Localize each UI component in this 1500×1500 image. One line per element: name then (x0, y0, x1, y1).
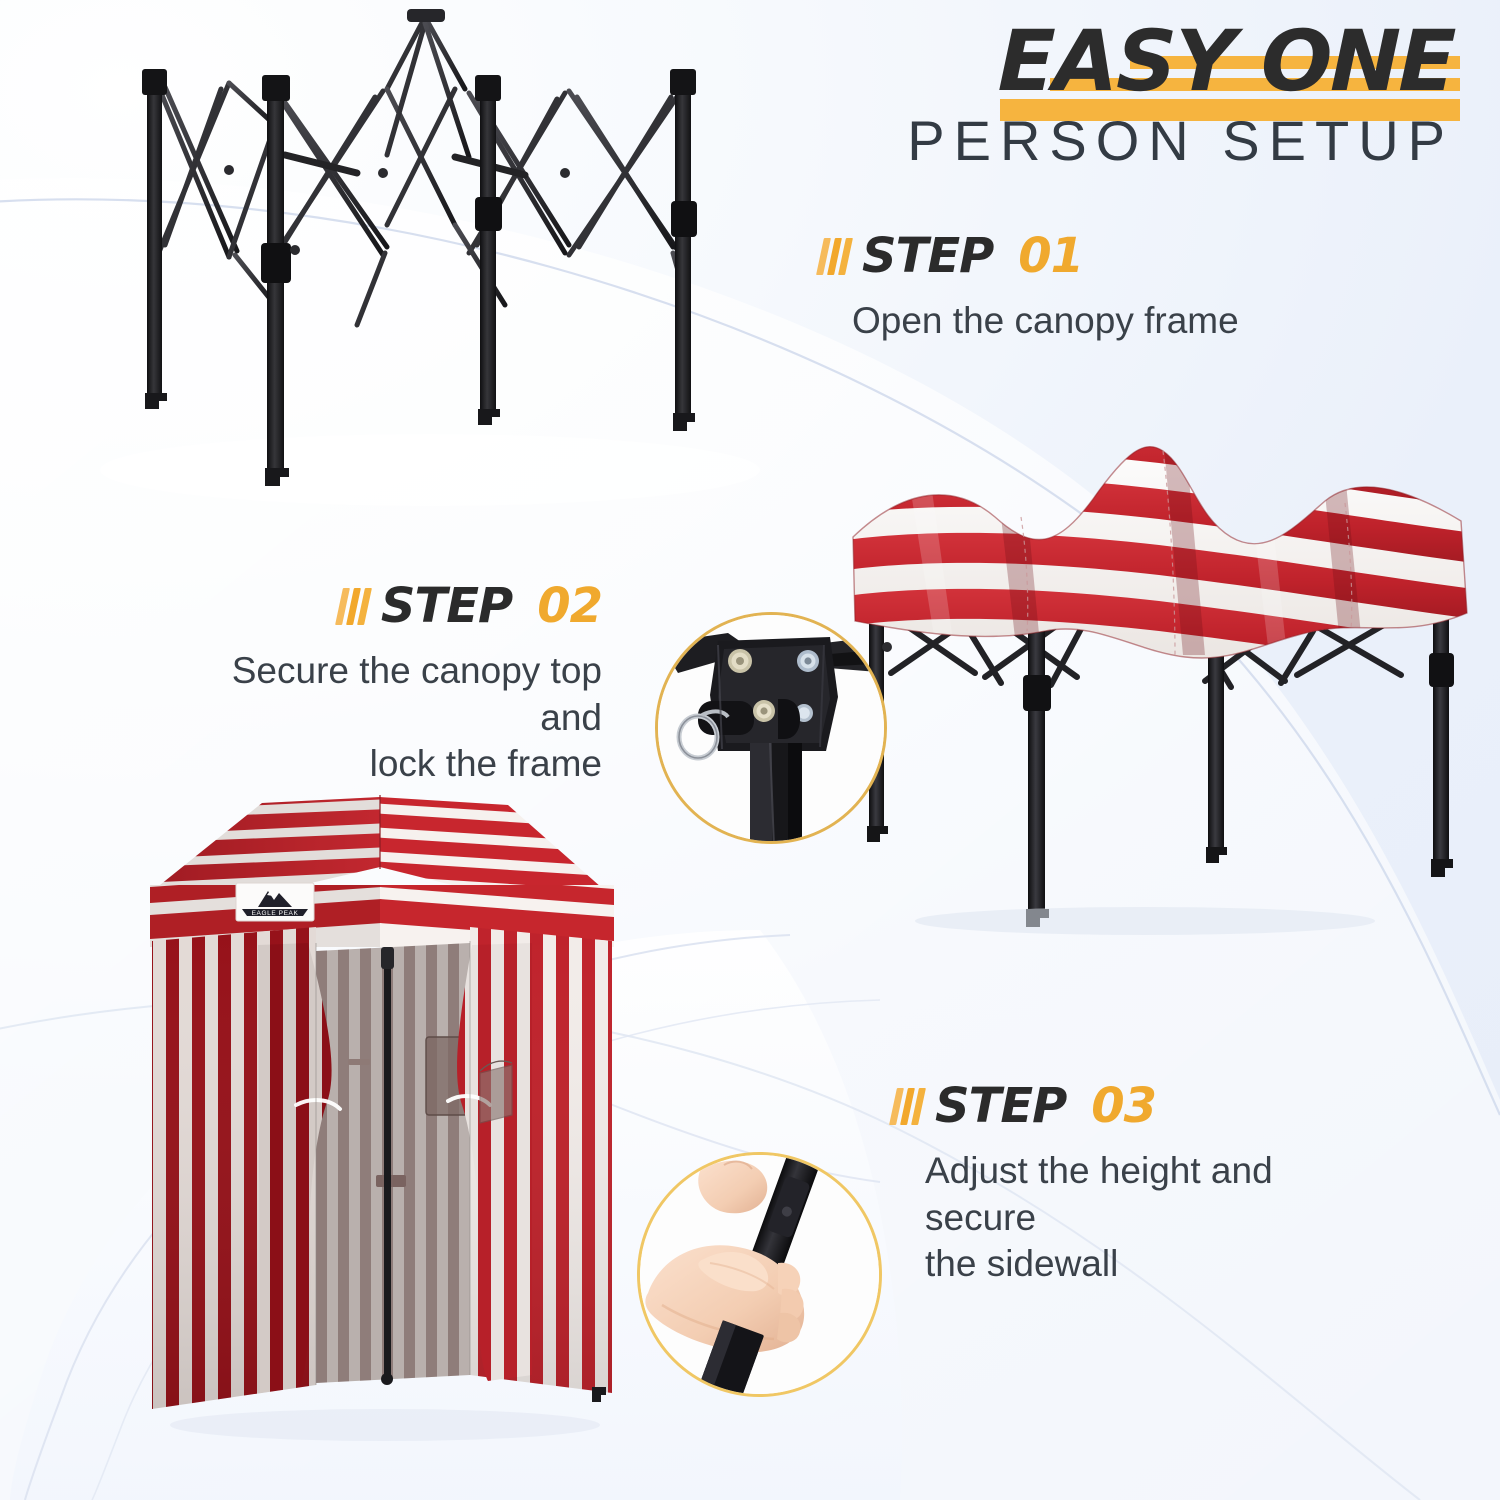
step-02-block: STEP 02 Secure the canopy top and lock t… (182, 578, 602, 788)
headline-block: EASY ONE PERSON SETUP (907, 20, 1454, 171)
step-03-heading: STEP 03 (893, 1078, 1363, 1134)
step-01-block: STEP 01 Open the canopy frame (820, 228, 1239, 345)
step-02-description-line-1: Secure the canopy top and (182, 648, 602, 741)
headline-main-wrap: EASY ONE (998, 20, 1454, 102)
striped-canopy-top-photo (845, 425, 1485, 935)
step-01-number: 01 (1018, 228, 1083, 284)
step-01-word: STEP (862, 228, 993, 284)
step-03-word: STEP (935, 1078, 1066, 1134)
svg-text:EAGLE PEAK: EAGLE PEAK (252, 910, 299, 917)
step-marker-bars-icon (335, 588, 372, 625)
headline-line-1: EASY ONE (997, 20, 1454, 102)
step-02-word: STEP (381, 578, 512, 634)
step-02-heading: STEP 02 (182, 578, 602, 634)
inset-step-02-lock-closeup (655, 612, 887, 844)
step-02-description: Secure the canopy top and lock the frame (182, 648, 602, 788)
inset-step-03-hand-closeup (637, 1152, 882, 1397)
step-marker-bars-icon (816, 238, 853, 275)
inset-circle-frame (655, 612, 887, 844)
step-03-number: 03 (1091, 1078, 1156, 1134)
inset-circle-frame (637, 1152, 882, 1397)
infographic-canvas: EASY ONE PERSON SETUP STEP 01 Open the c… (0, 0, 1500, 1500)
step-01-description: Open the canopy frame (852, 298, 1239, 345)
step-03-description: Adjust the height and secure the sidewal… (925, 1148, 1363, 1288)
canopy-frame-photo (125, 5, 725, 495)
step-01-heading: STEP 01 (820, 228, 1239, 284)
assembled-cabana-photo: EAGLE PEAK (140, 775, 630, 1445)
step-marker-bars-icon (889, 1088, 926, 1125)
headline-line-2: PERSON SETUP (907, 112, 1454, 171)
step-03-description-line-1: Adjust the height and secure (925, 1148, 1363, 1241)
step-03-description-line-2: the sidewall (925, 1241, 1363, 1288)
step-02-number: 02 (537, 578, 602, 634)
brand-logo-patch: EAGLE PEAK (236, 883, 314, 921)
step-03-block: STEP 03 Adjust the height and secure the… (893, 1078, 1363, 1288)
